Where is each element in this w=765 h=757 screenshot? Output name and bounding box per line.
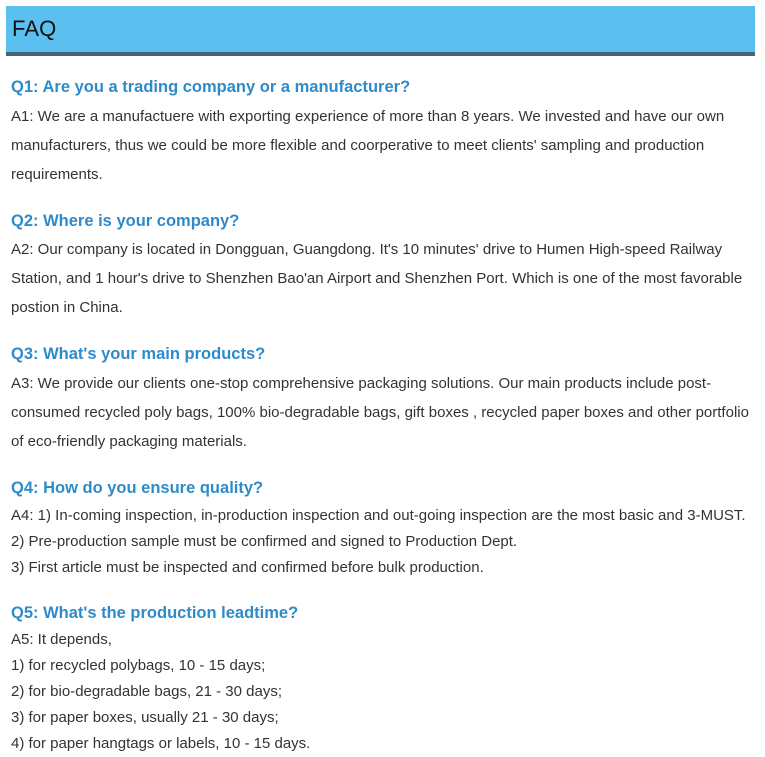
- faq-question-5: Q5: What's the production leadtime?: [11, 603, 752, 624]
- faq-item-5: Q5: What's the production leadtime? A5: …: [11, 603, 752, 757]
- faq-item-4: Q4: How do you ensure quality? A4: 1) In…: [11, 478, 752, 581]
- faq-question-2: Q2: Where is your company?: [11, 211, 752, 232]
- faq-item-3: Q3: What's your main products? A3: We pr…: [11, 344, 752, 456]
- faq-answer-line: 3) for paper boxes, usually 21 - 30 days…: [11, 705, 752, 731]
- page-title: FAQ: [6, 18, 56, 40]
- faq-answer-line: 4) for paper hangtags or labels, 10 - 15…: [11, 731, 752, 757]
- faq-question-3: Q3: What's your main products?: [11, 344, 752, 365]
- faq-answer-line: 2) Pre-production sample must be confirm…: [11, 529, 752, 555]
- faq-header-band: FAQ: [6, 6, 755, 56]
- faq-answer-line: 1) for recycled polybags, 10 - 15 days;: [11, 653, 752, 679]
- faq-item-2: Q2: Where is your company? A2: Our compa…: [11, 211, 752, 323]
- faq-answer-line: A4: 1) In-coming inspection, in-producti…: [11, 503, 752, 529]
- faq-page: FAQ Q1: Are you a trading company or a m…: [0, 6, 765, 754]
- faq-answer-1: A1: We are a manufactuere with exporting…: [11, 102, 752, 189]
- faq-answer-3: A3: We provide our clients one-stop comp…: [11, 369, 752, 456]
- faq-answer-line: 2) for bio-degradable bags, 21 - 30 days…: [11, 679, 752, 705]
- faq-item-1: Q1: Are you a trading company or a manuf…: [11, 77, 752, 189]
- faq-answer-2: A2: Our company is located in Dongguan, …: [11, 235, 752, 322]
- faq-content: Q1: Are you a trading company or a manuf…: [0, 77, 765, 757]
- faq-answer-5: A5: It depends, 1) for recycled polybags…: [11, 627, 752, 757]
- faq-question-4: Q4: How do you ensure quality?: [11, 478, 752, 499]
- faq-answer-line: A5: It depends,: [11, 627, 752, 653]
- faq-answer-line: 3) First article must be inspected and c…: [11, 555, 752, 581]
- faq-answer-4: A4: 1) In-coming inspection, in-producti…: [11, 503, 752, 581]
- faq-question-1: Q1: Are you a trading company or a manuf…: [11, 77, 752, 98]
